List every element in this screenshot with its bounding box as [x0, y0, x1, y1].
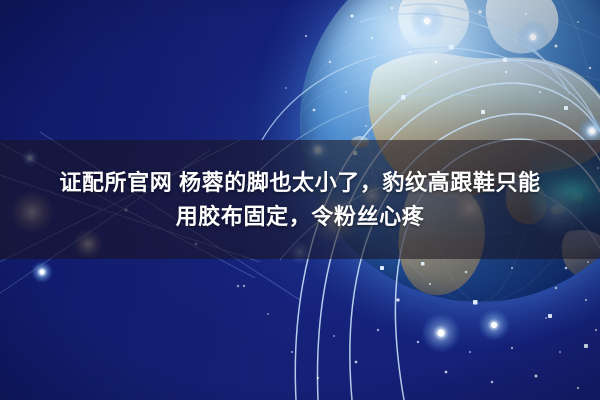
promo-banner: 证配所官网 杨蓉的脚也太小了，豹纹高跟鞋只能 用胶布固定，令粉丝心疼 [0, 0, 600, 400]
caption-block: 证配所官网 杨蓉的脚也太小了，豹纹高跟鞋只能 用胶布固定，令粉丝心疼 [0, 140, 600, 259]
caption-line-1: 证配所官网 杨蓉的脚也太小了，豹纹高跟鞋只能 [59, 169, 540, 196]
caption-line-2: 用胶布固定，令粉丝心疼 [176, 203, 425, 230]
